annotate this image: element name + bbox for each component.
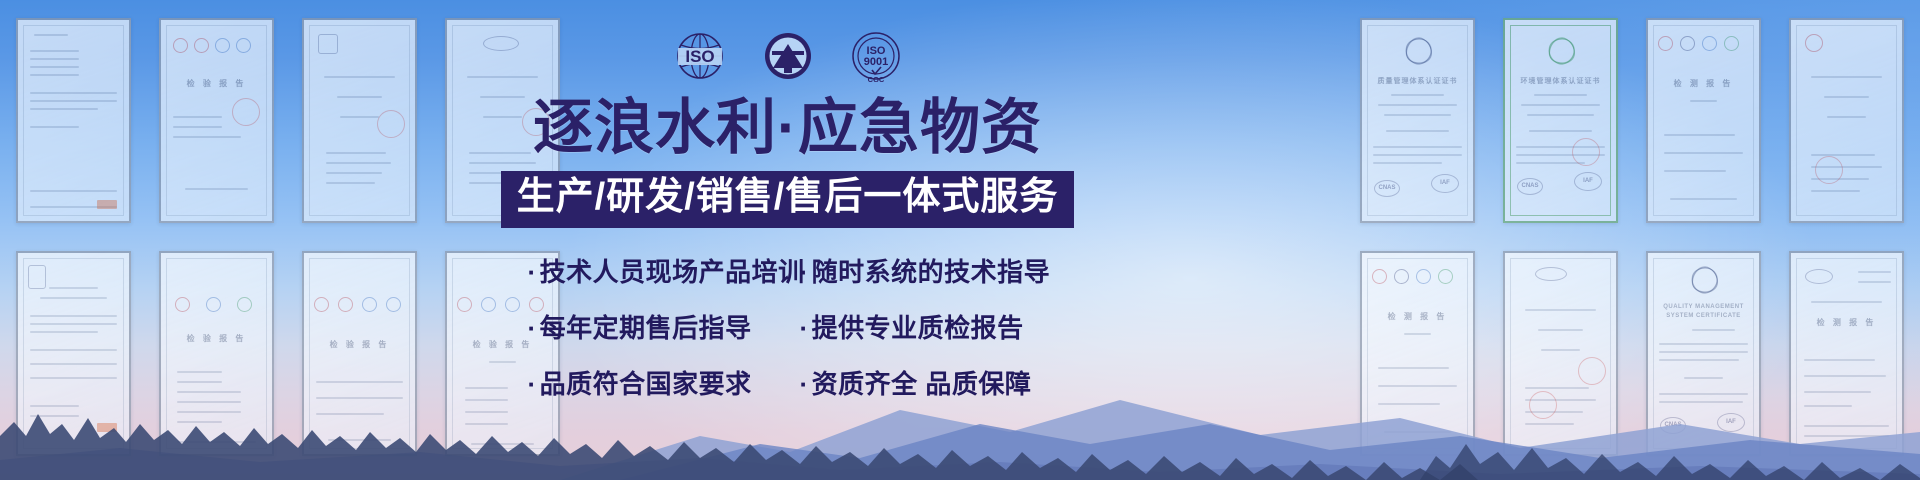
svg-text:9001: 9001 <box>863 56 887 68</box>
ccc-logo-icon <box>1372 269 1387 284</box>
certificate-line <box>1804 405 1852 407</box>
certificate-line <box>30 349 117 351</box>
cnas-oval-icon: CNAS <box>1517 178 1543 195</box>
certificate-line <box>1384 431 1451 433</box>
certificate-line <box>1521 104 1601 106</box>
certificate-line <box>1684 377 1724 379</box>
certificate-line <box>1824 96 1868 98</box>
certificate-logo-icon <box>1805 269 1833 284</box>
certificate-inner-frame <box>1367 258 1468 449</box>
certificate-card: 检 验 报 告 <box>159 18 274 223</box>
certificate-line <box>30 377 117 379</box>
certificate-line <box>49 287 98 289</box>
bullet-icon: · <box>800 257 809 287</box>
certificate-line <box>30 363 117 365</box>
certificate-heading: 环境管理体系认证证书 <box>1505 76 1616 86</box>
certificate-heading: 检 验 报 告 <box>161 78 272 89</box>
a-mark-logo-icon <box>1394 269 1409 284</box>
certificate-line <box>1384 114 1451 116</box>
certificate-line <box>173 126 222 128</box>
certificate-card <box>1503 251 1618 456</box>
certificate-line <box>30 315 117 317</box>
certificate-line <box>177 421 223 423</box>
certificate-line <box>173 116 222 118</box>
certificate-line <box>30 74 79 76</box>
cnas-oval-icon: CNAS <box>1660 417 1686 434</box>
ccc-logo-icon <box>173 38 188 53</box>
certificate-line <box>489 361 516 363</box>
certificate-card <box>16 18 131 223</box>
certificate-line <box>1804 375 1886 377</box>
certificate-line <box>1378 403 1440 405</box>
certificate-logo-row <box>1372 269 1453 284</box>
certificate-line <box>340 116 380 118</box>
certificate-card: 质量管理体系认证证书 CNAS IAF <box>1360 18 1475 223</box>
certificate-card: 环境管理体系认证证书 CNAS IAF <box>1503 18 1618 223</box>
certificate-seal <box>1815 156 1843 184</box>
certificate-logo-row <box>314 297 401 312</box>
promo-banner: 检 验 报 告 <box>0 0 1920 480</box>
list-item: ·每年定期售后指导 <box>528 308 800 345</box>
certificate-heading: QUALITY MANAGEMENT SYSTEM CERTIFICATE <box>1648 303 1759 321</box>
certificate-line <box>1525 423 1574 425</box>
certificate-line <box>1391 94 1444 96</box>
certificate-card: 检 验 报 告 <box>302 251 417 456</box>
certificate-line <box>30 331 98 333</box>
certificate-line <box>30 66 79 68</box>
certificate-line <box>1541 349 1581 351</box>
certificate-line <box>465 399 508 401</box>
certificate-inner-frame <box>309 258 410 449</box>
certificate-line <box>471 443 533 445</box>
certificate-seal <box>522 108 550 136</box>
atom-emblem-icon <box>1692 267 1718 293</box>
feature-list: ·技术人员现场产品培训 ·随时系统的技术指导 ·每年定期售后指导 ·提供专业质检… <box>528 252 1048 401</box>
certificate-grid-right: 质量管理体系认证证书 CNAS IAF 环境管理体系认证证书 CNAS IAF <box>1360 18 1904 456</box>
certificate-line <box>1804 425 1888 427</box>
iaf-oval-icon: IAF <box>1717 413 1745 432</box>
cnas-logo-icon <box>481 297 496 312</box>
a-mark-logo-icon <box>194 38 209 53</box>
certificate-stamp <box>97 200 117 209</box>
iso-9000-seal-badge: ISO 9000 <box>762 30 814 82</box>
certificate-line <box>469 182 516 184</box>
feature-label: 提供专业质检报告 <box>812 313 1024 343</box>
certificate-heading: 检 验 报 告 <box>161 333 272 344</box>
certificate-line <box>1404 333 1431 335</box>
cma-logo-icon <box>505 297 520 312</box>
bullet-icon: · <box>800 313 809 343</box>
certificate-card: QUALITY MANAGEMENT SYSTEM CERTIFICATE CN… <box>1646 251 1761 456</box>
certificate-logo-row <box>173 38 251 53</box>
certificate-line <box>1664 170 1726 172</box>
certificate-inner-frame <box>1796 258 1897 449</box>
certificate-logo-row <box>1658 36 1739 51</box>
certificate-line <box>1858 281 1891 283</box>
certificate-line <box>1529 130 1591 132</box>
list-item: ·随时系统的技术指导 <box>800 252 1048 289</box>
certificate-emblem <box>318 34 338 54</box>
certificate-logo-row <box>175 297 252 312</box>
iso-globe-label: ISO <box>685 47 714 66</box>
subtitle-banner: 生产/研发/销售/售后一体式服务 <box>501 171 1075 228</box>
certificate-seal <box>232 98 260 126</box>
bullet-icon: · <box>800 369 809 399</box>
list-item: ·品质符合国家要求 <box>528 364 800 401</box>
cnas-logo-icon <box>1416 269 1431 284</box>
certificate-card: 检 测 报 告 <box>1360 251 1475 456</box>
hero-content: ISO ISO 9000 ISO <box>495 0 1080 480</box>
a-mark-logo-icon <box>529 297 544 312</box>
certificate-line <box>1534 94 1587 96</box>
certificate-line <box>324 76 395 78</box>
certificate-logo-icon <box>1535 267 1567 281</box>
certificate-heading: 检 验 报 告 <box>304 339 415 350</box>
feature-label: 每年定期售后指导 <box>540 313 752 343</box>
certificate-line <box>316 381 403 383</box>
certificate-heading: 检 测 报 告 <box>1362 311 1473 322</box>
certificate-line <box>483 116 523 118</box>
iaf-oval-icon: IAF <box>1431 174 1459 193</box>
certificate-line <box>30 108 98 110</box>
certificate-card <box>16 251 131 456</box>
certificate-line <box>1659 393 1748 395</box>
certificate-line <box>1664 152 1744 154</box>
certificate-card: 检 测 报 告 <box>1646 18 1761 223</box>
certificate-line <box>30 190 117 192</box>
certificate-line <box>469 152 531 154</box>
certification-badges: ISO ISO 9000 ISO <box>674 30 902 82</box>
certificate-card <box>302 18 417 223</box>
certificate-line <box>1378 104 1458 106</box>
feature-label: 技术人员现场产品培训 <box>540 257 805 287</box>
certificate-line <box>1811 76 1882 78</box>
certificate-card <box>445 18 560 223</box>
certificate-seal <box>377 110 405 138</box>
certificate-line <box>177 401 241 403</box>
certificate-heading: 质量管理体系认证证书 <box>1362 76 1473 86</box>
certificate-line <box>1516 162 1585 164</box>
cma-logo-icon <box>236 38 251 53</box>
certificate-line <box>1659 351 1748 353</box>
certificate-seal <box>1578 357 1606 385</box>
certificate-seal <box>1529 391 1557 419</box>
certificate-line <box>1690 100 1717 102</box>
certificate-line <box>1659 401 1743 403</box>
certificate-line <box>30 405 79 407</box>
ccc-logo-icon <box>457 297 472 312</box>
certificate-line <box>1811 154 1875 156</box>
certificate-line <box>1525 387 1589 389</box>
certificate-emblem <box>28 265 46 289</box>
certificate-logo-icon <box>483 36 519 51</box>
eco-logo-icon <box>237 297 252 312</box>
certificate-line <box>1373 154 1462 156</box>
certificate-line <box>177 411 241 413</box>
certificate-line <box>1373 162 1442 164</box>
eco-logo-icon <box>1438 269 1453 284</box>
certificate-line <box>1664 134 1735 136</box>
certificate-line <box>177 391 241 393</box>
certificate-inner-frame <box>1796 25 1897 216</box>
feature-label: 资质齐全 品质保障 <box>812 369 1032 399</box>
certificate-line <box>326 162 390 164</box>
certificate-line <box>1659 359 1739 361</box>
certificate-line <box>328 439 390 441</box>
certificate-logo-row <box>457 297 544 312</box>
certificate-line <box>465 387 508 389</box>
a-mark-logo-icon <box>1680 36 1695 51</box>
certificate-line <box>1378 385 1458 387</box>
certificate-line <box>337 96 381 98</box>
certificate-line <box>1804 391 1871 393</box>
list-item: ·技术人员现场产品培训 <box>528 252 800 289</box>
eco-logo-icon <box>1724 36 1739 51</box>
certificate-card: 检 测 报 告 <box>1789 251 1904 456</box>
certificate-line <box>30 415 79 417</box>
certificate-line <box>1858 271 1891 273</box>
certificate-line <box>1527 114 1594 116</box>
certificate-line <box>1804 435 1888 437</box>
certificate-grid-left: 检 验 报 告 <box>16 18 560 456</box>
certificate-line <box>30 92 117 94</box>
certificate-line <box>1827 116 1867 118</box>
list-item: ·资质齐全 品质保障 <box>800 364 1048 401</box>
cnas-logo-icon <box>215 38 230 53</box>
certificate-card <box>1789 18 1904 223</box>
certificate-line <box>1811 301 1882 303</box>
certificate-line <box>465 423 508 425</box>
certificate-line <box>469 172 522 174</box>
iaf-oval-icon: IAF <box>1574 172 1602 191</box>
certificate-line <box>326 182 375 184</box>
cnas-logo-icon <box>1702 36 1717 51</box>
page-title: 逐浪水利·应急物资 <box>533 96 1042 159</box>
certificate-heading: 检 验 报 告 <box>447 339 558 350</box>
certificate-stamp <box>97 423 117 432</box>
certificate-line <box>177 441 257 443</box>
ccc-logo-icon <box>175 297 190 312</box>
iso-9001-cqc-badge: ISO 9001 CQC ISO 9001 <box>850 30 902 82</box>
certificate-line <box>177 381 223 383</box>
certificate-inner-frame <box>23 25 124 216</box>
certificate-line <box>1811 190 1860 192</box>
cnas-oval-icon: CNAS <box>1374 180 1400 197</box>
feature-label: 随时系统的技术指导 <box>812 257 1051 287</box>
certificate-heading: 检 测 报 告 <box>1648 78 1759 89</box>
cnas-logo-icon <box>362 297 377 312</box>
certificate-seal <box>1572 138 1600 166</box>
list-item: ·提供专业质检报告 <box>800 308 1048 345</box>
atom-emblem-icon <box>1549 38 1575 64</box>
iso-globe-badge: ISO <box>674 30 726 82</box>
certificate-line <box>1386 130 1448 132</box>
certificate-line <box>177 371 223 373</box>
ccc-logo-icon <box>1658 36 1673 51</box>
feature-label: 品质符合国家要求 <box>540 369 752 399</box>
certificate-line <box>1692 329 1734 331</box>
certificate-line <box>326 152 386 154</box>
certificate-line <box>30 100 117 102</box>
atom-emblem-icon <box>1406 38 1432 64</box>
certificate-line <box>30 58 79 60</box>
svg-text:ISO: ISO <box>866 45 885 57</box>
certificate-line <box>326 172 382 174</box>
certificate-heading: 检 测 报 告 <box>1791 317 1902 328</box>
certificate-line <box>30 50 79 52</box>
cma-logo-icon <box>386 297 401 312</box>
certificate-card: 检 验 报 告 <box>445 251 560 456</box>
certificate-line <box>1804 359 1875 361</box>
certificate-line <box>316 413 384 415</box>
certificate-line <box>1538 329 1582 331</box>
cqc-label: CQC <box>867 75 884 82</box>
cnas-logo-icon <box>206 297 221 312</box>
certificate-line <box>34 34 68 36</box>
certificate-line <box>1525 309 1596 311</box>
certificate-line <box>467 76 538 78</box>
ccc-logo-icon <box>314 297 329 312</box>
certificate-line <box>465 411 508 413</box>
certificate-inner-frame <box>1653 25 1754 216</box>
a-mark-logo-icon <box>338 297 353 312</box>
certificate-line <box>185 188 247 190</box>
certificate-inner-frame <box>1510 258 1611 449</box>
certificate-line <box>40 297 107 299</box>
certificate-line <box>30 126 79 128</box>
certificate-line <box>1373 146 1462 148</box>
ccc-logo-icon <box>1805 34 1823 52</box>
certificate-card: 检 验 报 告 <box>159 251 274 456</box>
certificate-line <box>1659 343 1748 345</box>
certificate-line <box>30 323 117 325</box>
certificate-line <box>1378 367 1449 369</box>
certificate-line <box>480 96 524 98</box>
certificate-line <box>469 162 536 164</box>
certificate-line <box>1670 198 1737 200</box>
certificate-line <box>173 136 241 138</box>
certificate-inner-frame <box>452 258 553 449</box>
certificate-line <box>316 397 403 399</box>
